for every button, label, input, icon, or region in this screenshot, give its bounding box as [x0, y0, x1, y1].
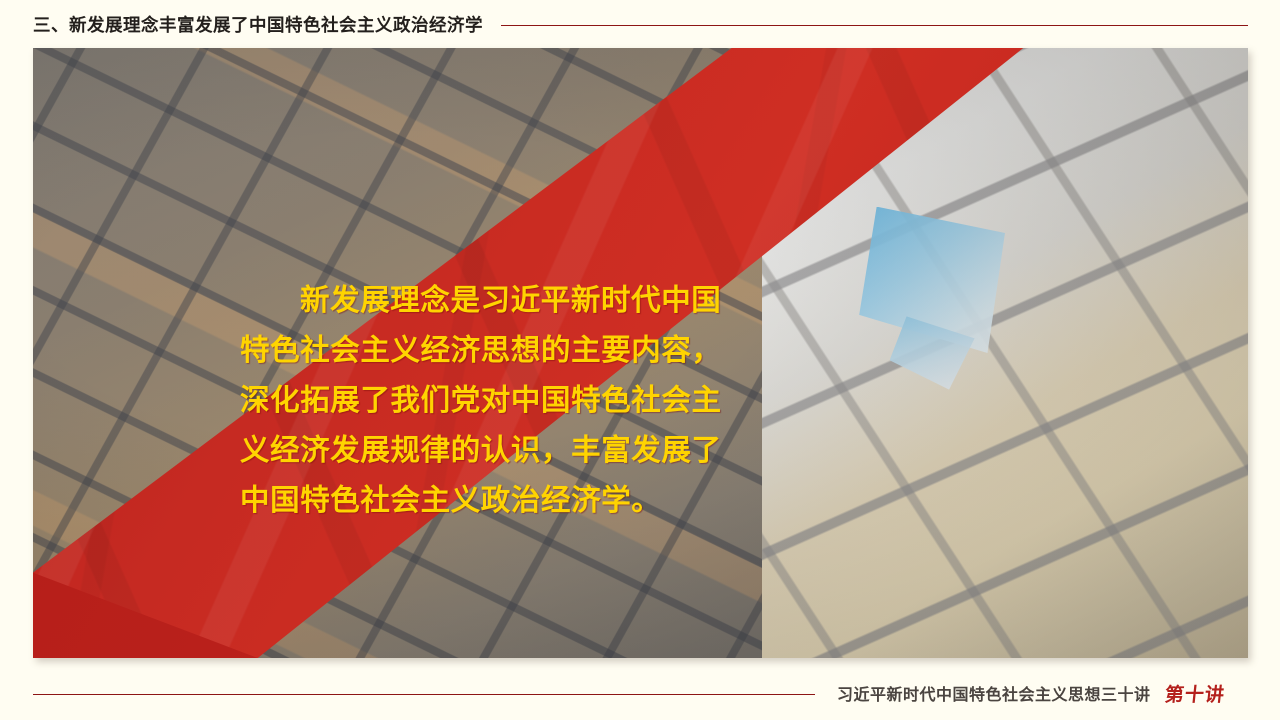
slide-visual-panel: 新发展理念是习近平新时代中国 特色社会主义经济思想的主要内容， 深化拓展了我们党… — [33, 48, 1248, 658]
footer-lecture-badge: 第十讲 — [1163, 680, 1226, 707]
page-title: 三、新发展理念丰富发展了中国特色社会主义政治经济学 — [33, 12, 483, 37]
body-line-3: 深化拓展了我们党对中国特色社会主 — [240, 376, 780, 426]
slide-header: 三、新发展理念丰富发展了中国特色社会主义政治经济学 — [0, 0, 1280, 48]
body-line-1: 新发展理念是习近平新时代中国 — [240, 276, 780, 326]
body-copy-block: 新发展理念是习近平新时代中国 特色社会主义经济思想的主要内容， 深化拓展了我们党… — [240, 276, 780, 526]
body-line-5: 中国特色社会主义政治经济学。 — [240, 476, 780, 526]
body-line-4: 义经济发展规律的认识，丰富发展了 — [240, 426, 780, 476]
body-line-2: 特色社会主义经济思想的主要内容， — [240, 326, 780, 376]
header-divider-line — [501, 25, 1248, 26]
footer-series-title: 习近平新时代中国特色社会主义思想三十讲 — [837, 681, 1151, 705]
footer-divider-line — [33, 694, 815, 695]
slide-footer: 习近平新时代中国特色社会主义思想三十讲 第十讲 — [0, 672, 1280, 714]
